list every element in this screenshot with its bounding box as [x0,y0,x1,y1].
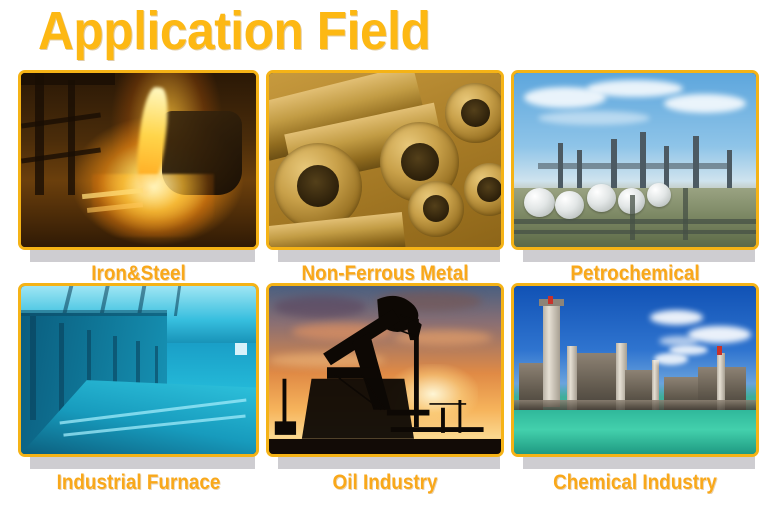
photo-frame[interactable] [266,283,504,457]
application-grid: Iron&Steel Non-Fe [0,70,778,527]
application-cell-petrochemical[interactable]: Petrochemical [511,70,759,283]
application-cell-industrial-furnace[interactable]: Industrial Furnace [18,283,259,496]
cell-shadow-band [30,248,255,262]
application-cell-chemical-industry[interactable]: Chemical Industry [511,283,759,496]
cell-label-iron-steel: Iron&Steel [30,262,247,286]
cell-shadow-band [523,455,755,469]
cell-label-petrochemical: Petrochemical [523,262,746,286]
photo-frame[interactable] [18,283,259,457]
photo-frame[interactable] [511,283,759,457]
cell-shadow-band [523,248,755,262]
oil-pumpjack-sunset-photo [269,286,501,454]
pumpjack-silhouette-icon [269,286,501,454]
application-cell-iron-steel[interactable]: Iron&Steel [18,70,259,283]
brass-copper-pipes-photo [269,73,501,247]
cell-shadow-band [30,455,255,469]
application-cell-non-ferrous-metal[interactable]: Non-Ferrous Metal [266,70,504,283]
cell-label-industrial-furnace: Industrial Furnace [30,471,247,495]
cell-label-oil-industry: Oil Industry [278,471,492,495]
industrial-furnace-interior-photo [21,286,256,454]
cell-shadow-band [278,455,500,469]
application-field-banner: Application Field [0,0,778,527]
grid-row-bottom: Industrial Furnace [0,283,778,527]
photo-frame[interactable] [18,70,259,250]
application-cell-oil-industry[interactable]: Oil Industry [266,283,504,496]
cell-label-chemical-industry: Chemical Industry [523,471,746,495]
molten-steel-pour-photo [21,73,256,247]
grid-row-top: Iron&Steel Non-Fe [0,70,778,283]
chemical-plant-waterfront-photo [514,286,756,454]
cell-label-non-ferrous-metal: Non-Ferrous Metal [278,262,492,286]
photo-frame[interactable] [511,70,759,250]
page-title: Application Field [38,0,430,62]
petrochemical-refinery-photo [514,73,756,247]
cell-shadow-band [278,248,500,262]
photo-frame[interactable] [266,70,504,250]
